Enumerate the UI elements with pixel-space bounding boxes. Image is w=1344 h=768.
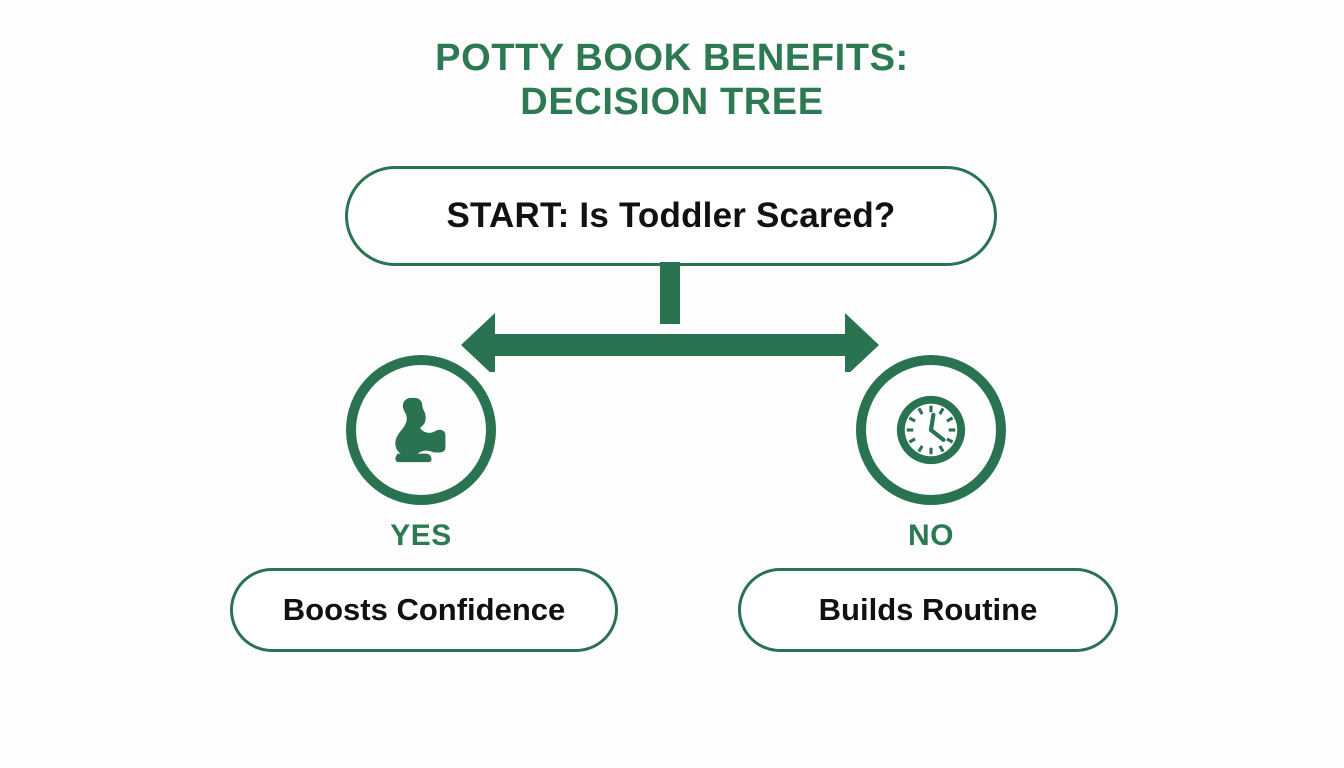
title-line-2: DECISION TREE — [0, 80, 1344, 124]
branch-no-label: NO — [801, 519, 1061, 553]
diagram-title: POTTY BOOK BENEFITS: DECISION TREE — [0, 36, 1344, 125]
branch-no[interactable]: NO — [801, 355, 1061, 553]
branch-yes[interactable]: YES — [291, 355, 551, 553]
outcome-yes-label: Boosts Confidence — [283, 592, 565, 628]
title-line-1: POTTY BOOK BENEFITS: — [0, 36, 1344, 80]
start-node-label: START: Is Toddler Scared? — [446, 196, 895, 236]
branch-yes-label: YES — [291, 519, 551, 553]
outcome-node-no[interactable]: Builds Routine — [738, 568, 1118, 652]
branch-yes-icon-circle — [346, 355, 496, 505]
outcome-no-label: Builds Routine — [819, 592, 1038, 628]
start-node[interactable]: START: Is Toddler Scared? — [345, 166, 997, 266]
diagram-canvas: POTTY BOOK BENEFITS: DECISION TREE START… — [0, 0, 1344, 768]
branch-no-icon-circle — [856, 355, 1006, 505]
flexed-bicep-icon — [379, 388, 463, 472]
clock-icon — [889, 388, 973, 472]
outcome-node-yes[interactable]: Boosts Confidence — [230, 568, 618, 652]
